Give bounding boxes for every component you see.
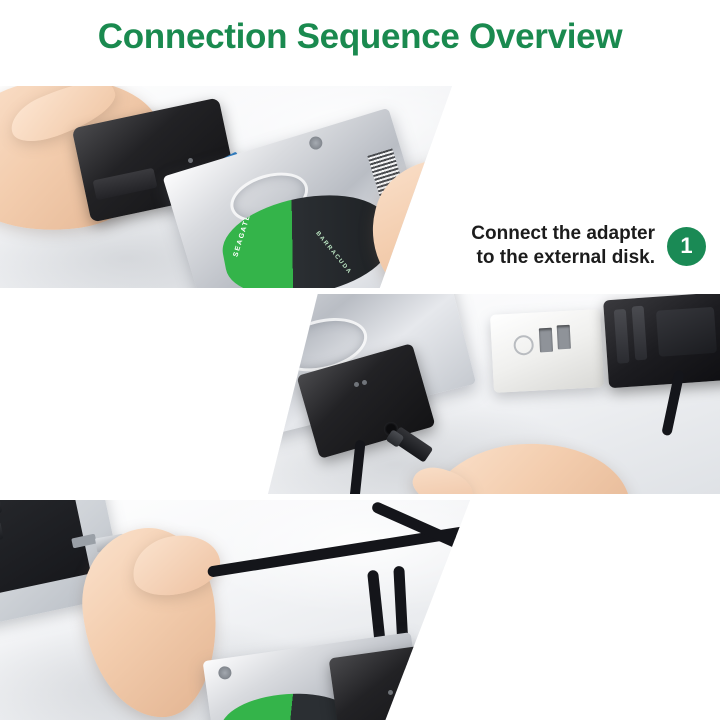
- step-panel-1: SEAGATE BARRACUDA Connect the adapter to…: [0, 86, 720, 288]
- usb-hub: [490, 309, 604, 393]
- hdd-screw-2: [308, 135, 324, 151]
- keycap: [0, 500, 2, 517]
- infographic-page: Connection Sequence Overview: [0, 0, 720, 720]
- psu-vent-1: [614, 309, 630, 364]
- adapter-led: [354, 382, 359, 387]
- psu-panel: [656, 307, 717, 357]
- page-title: Connection Sequence Overview: [0, 14, 720, 60]
- scene-3: [0, 500, 470, 720]
- step-2-photo: [268, 294, 720, 494]
- step-1-badge: 1: [667, 227, 706, 266]
- seagate-label: [272, 294, 409, 299]
- adapter-led-2: [362, 380, 367, 385]
- step-panel-3: Plug in the USB porton PC/laptop. 3: [0, 500, 720, 720]
- scene-2: [268, 294, 720, 494]
- hub-power-ring: [513, 335, 534, 356]
- step-1-photo: SEAGATE BARRACUDA: [0, 86, 452, 288]
- adapter-led: [388, 690, 393, 695]
- keycap: [0, 521, 4, 544]
- hdd-screw-1: [218, 666, 233, 681]
- seagate-brand-text: SEAGATE: [232, 213, 252, 258]
- step-panel-2: 2 Connect to the power supply. Note: DC …: [0, 294, 720, 494]
- psu-vent-2: [632, 306, 648, 361]
- power-supply: [603, 294, 720, 388]
- step-1-text: Connect the adapter to the external disk…: [471, 222, 655, 270]
- step-1-caption: Connect the adapter to the external disk…: [471, 222, 706, 270]
- scene-1: SEAGATE BARRACUDA: [0, 86, 452, 288]
- usb-port-1: [539, 328, 553, 353]
- usb-port-2: [557, 325, 571, 350]
- step-3-photo: [0, 500, 470, 720]
- seagate-model-text: BARRACUDA: [314, 231, 352, 276]
